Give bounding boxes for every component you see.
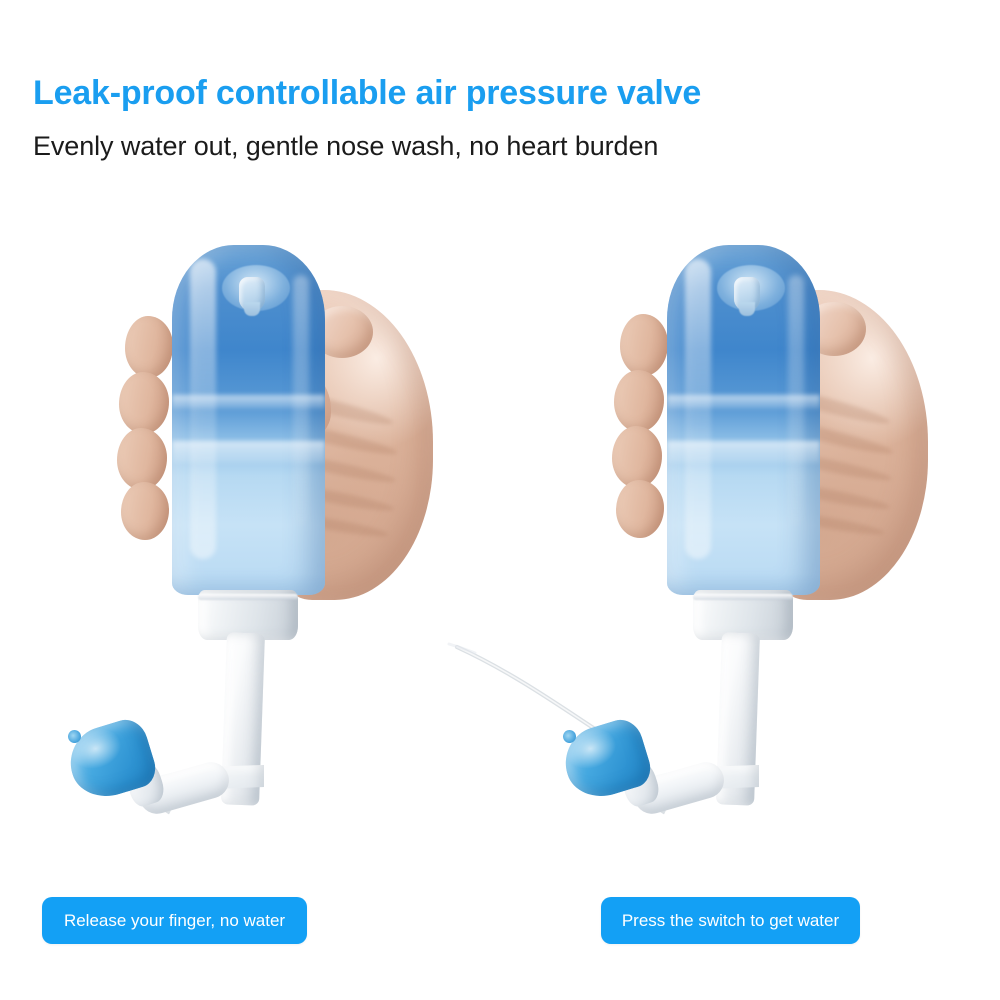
bottle-right	[667, 245, 820, 595]
middle-finger	[119, 372, 169, 434]
bottle-left	[172, 245, 325, 595]
valve-stem	[739, 302, 755, 316]
collar-rim	[693, 594, 793, 600]
bottle-seam-band	[172, 395, 325, 409]
product-photo-right	[515, 225, 985, 845]
index-finger	[620, 314, 668, 376]
ring-finger	[612, 426, 662, 488]
bottle-highlight	[190, 259, 216, 559]
caption-badge-press-switch: Press the switch to get water	[601, 897, 860, 944]
caption-badge-release-finger: Release your finger, no water	[42, 897, 307, 944]
page-headline: Leak-proof controllable air pressure val…	[33, 74, 701, 113]
little-finger	[616, 480, 664, 538]
bottle-highlight	[685, 259, 711, 559]
product-photo-left	[20, 225, 490, 845]
bottle-water-line	[667, 441, 820, 463]
bottle-seam-band	[667, 395, 820, 409]
little-finger	[121, 482, 169, 540]
index-finger	[125, 316, 173, 378]
bottle-water-line	[172, 441, 325, 463]
panel-valve-pressed	[515, 225, 985, 845]
valve-stem	[244, 302, 260, 316]
ring-finger	[117, 428, 167, 490]
middle-finger	[614, 370, 664, 432]
panel-valve-released	[20, 225, 490, 845]
page-subheadline: Evenly water out, gentle nose wash, no h…	[33, 131, 658, 162]
collar-rim	[198, 594, 298, 600]
product-feature-page: Leak-proof controllable air pressure val…	[0, 0, 1000, 1000]
